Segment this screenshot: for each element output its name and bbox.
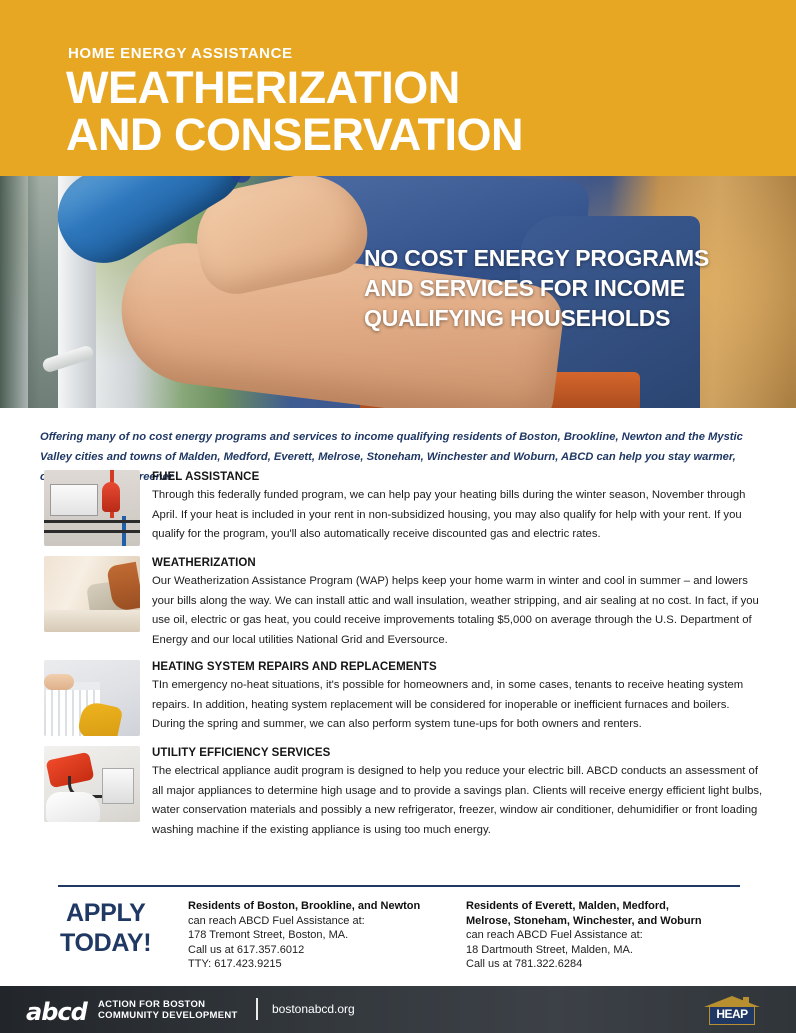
apply-today-heading: APPLY TODAY! (66, 898, 186, 958)
section-body: WEATHERIZATION Our Weatherization Assist… (152, 556, 764, 650)
contact-column-boston: Residents of Boston, Brookline, and Newt… (188, 899, 458, 972)
section-body: UTILITY EFFICIENCY SERVICES The electric… (152, 746, 764, 840)
hero-overlay-line-3: QUALIFYING HOUSEHOLDS (364, 303, 768, 333)
contact-column-mystic-valley: Residents of Everett, Malden, Medford, M… (466, 899, 756, 972)
apply-word-2: TODAY! (60, 928, 186, 958)
section-title: HEATING SYSTEM REPAIRS AND REPLACEMENTS (152, 661, 764, 673)
heap-logo: HEAP (704, 996, 760, 1026)
abcd-logo: abcd (26, 998, 87, 1026)
gloved-hand-insulation-photo (44, 556, 140, 632)
flyer-page: HOME ENERGY ASSISTANCE WEATHERIZATION AN… (0, 0, 796, 1033)
program-sections: FUEL ASSISTANCE Through this federally f… (44, 470, 764, 850)
hero-overlay-line-1: NO COST ENERGY PROGRAMS (364, 243, 768, 273)
header-banner: HOME ENERGY ASSISTANCE WEATHERIZATION AN… (0, 0, 796, 176)
contact-phone[interactable]: Call us at 617.357.6012 (188, 943, 458, 958)
contact-line: can reach ABCD Fuel Assistance at: (466, 928, 756, 943)
hero-left-vignette (0, 176, 40, 408)
pipe-bundle-shape (44, 516, 140, 546)
section-body: FUEL ASSISTANCE Through this federally f… (152, 470, 764, 546)
section-fuel-assistance: FUEL ASSISTANCE Through this federally f… (44, 470, 764, 546)
footer-divider (256, 998, 258, 1020)
contact-tty[interactable]: TTY: 617.423.9215 (188, 957, 458, 972)
section-divider (58, 885, 740, 887)
electrical-multimeter-photo (44, 746, 140, 822)
section-title: WEATHERIZATION (152, 557, 764, 569)
contact-address: 178 Tremont Street, Boston, MA. (188, 928, 458, 943)
page-title: WEATHERIZATION AND CONSERVATION (66, 64, 766, 158)
work-surface-shape (44, 610, 140, 632)
contact-phone[interactable]: Call us at 781.322.6284 (466, 957, 756, 972)
section-text: The electrical appliance audit program i… (152, 762, 764, 840)
contact-address: 18 Dartmouth Street, Malden, MA. (466, 943, 756, 958)
website-url[interactable]: bostonabcd.org (272, 1002, 355, 1016)
white-glove-shape (46, 792, 100, 822)
section-title: UTILITY EFFICIENCY SERVICES (152, 747, 764, 759)
contact-heading: Residents of Boston, Brookline, and Newt… (188, 899, 458, 914)
heap-logo-text: HEAP (709, 1007, 755, 1021)
hero-overlay-text: NO COST ENERGY PROGRAMS AND SERVICES FOR… (364, 243, 768, 333)
section-text: TIn emergency no-heat situations, it's p… (152, 676, 764, 735)
abcd-tagline-line-2: COMMUNITY DEVELOPMENT (98, 1010, 238, 1021)
section-body: HEATING SYSTEM REPAIRS AND REPLACEMENTS … (152, 660, 764, 736)
section-weatherization: WEATHERIZATION Our Weatherization Assist… (44, 556, 764, 650)
section-title: FUEL ASSISTANCE (152, 471, 764, 483)
hero-overlay-line-2: AND SERVICES FOR INCOME (364, 273, 768, 303)
hand-shape (44, 674, 74, 690)
section-text: Through this federally funded program, w… (152, 486, 764, 545)
abcd-tagline: ACTION FOR BOSTON COMMUNITY DEVELOPMENT (98, 999, 238, 1021)
contact-heading-line-1: Residents of Everett, Malden, Medford, (466, 899, 756, 914)
contact-line: can reach ABCD Fuel Assistance at: (188, 914, 458, 929)
apply-word-1: APPLY (66, 898, 186, 928)
boiler-pipes-photo (44, 470, 140, 546)
section-heating-repairs: HEATING SYSTEM REPAIRS AND REPLACEMENTS … (44, 660, 764, 736)
page-title-line-2: AND CONSERVATION (66, 111, 766, 158)
section-text: Our Weatherization Assistance Program (W… (152, 572, 764, 650)
footer-bar: abcd ACTION FOR BOSTON COMMUNITY DEVELOP… (0, 986, 796, 1033)
red-pipe-shape (110, 470, 114, 518)
radiator-hands-photo (44, 660, 140, 736)
page-title-line-1: WEATHERIZATION (66, 62, 460, 113)
section-utility-efficiency: UTILITY EFFICIENCY SERVICES The electric… (44, 746, 764, 840)
contact-heading-line-2: Melrose, Stoneham, Winchester, and Wobur… (466, 914, 756, 929)
header-eyebrow: HOME ENERGY ASSISTANCE (68, 45, 293, 62)
abcd-tagline-line-1: ACTION FOR BOSTON (98, 999, 238, 1010)
